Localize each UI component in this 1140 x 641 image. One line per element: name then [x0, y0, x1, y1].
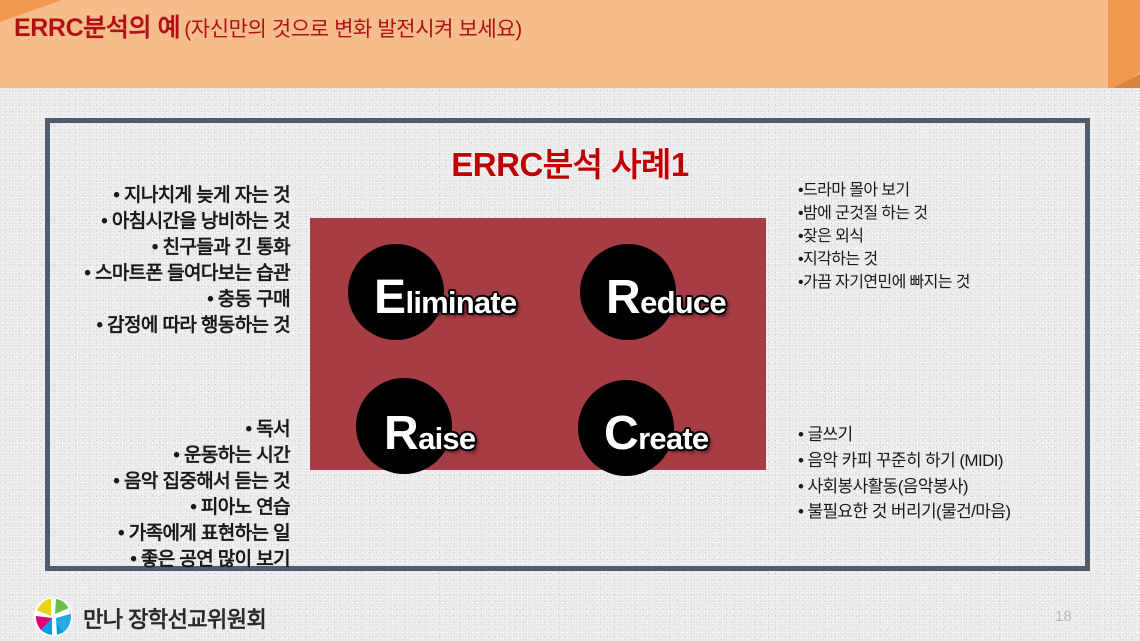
list-item: • 감정에 따라 행동하는 것 — [30, 313, 290, 339]
header-right-accent-stripe — [1108, 0, 1140, 88]
eliminate-item-list: • 지나치게 늦게 자는 것 • 아침시간을 낭비하는 것 • 친구들과 긴 통… — [30, 183, 290, 339]
list-item: • 음악 집중해서 듣는 것 — [30, 469, 290, 495]
list-item: • 피아노 연습 — [30, 495, 290, 521]
pinwheel-logo-icon — [33, 597, 73, 637]
list-item: • 사회봉사활동(음악봉사) — [798, 474, 1098, 500]
list-item: • 글쓰기 — [798, 422, 1098, 448]
list-item: •잦은 외식 — [798, 225, 1078, 248]
list-item: • 가족에게 표현하는 일 — [30, 521, 290, 547]
list-item: • 충동 구매 — [30, 287, 290, 313]
reduce-item-list: •드라마 몰아 보기 •밤에 군것질 하는 것 •잦은 외식 •지각하는 것 •… — [798, 179, 1078, 294]
eliminate-label: Eliminate — [352, 248, 516, 322]
reduce-rest: educe — [640, 285, 726, 320]
create-initial: C — [604, 407, 638, 460]
list-item: • 독서 — [30, 417, 290, 443]
page-title: ERRC분석의 예 — [14, 14, 180, 42]
slide-canvas: ERRC분석의 예(자신만의 것으로 변화 발전시켜 보세요) ERRC분석 사… — [0, 0, 1140, 641]
list-item: •드라마 몰아 보기 — [798, 179, 1078, 202]
list-item: • 아침시간을 낭비하는 것 — [30, 209, 290, 235]
errc-cell-raise[interactable]: Raise — [362, 384, 475, 458]
reduce-initial: R — [606, 271, 640, 324]
create-rest: reate — [638, 421, 708, 456]
errc-cell-create[interactable]: Create — [582, 384, 708, 458]
list-item: •지각하는 것 — [798, 248, 1078, 271]
list-item: • 불필요한 것 버리기(물건/마음) — [798, 499, 1098, 525]
list-item: • 스마트폰 들여다보는 습관 — [30, 261, 290, 287]
organization-name: 만나 장학선교위원회 — [83, 602, 266, 634]
create-item-list: • 글쓰기 • 음악 카피 꾸준히 하기 (MIDI) • 사회봉사활동(음악봉… — [798, 422, 1098, 525]
raise-initial: R — [384, 407, 418, 460]
list-item: • 음악 카피 꾸준히 하기 (MIDI) — [798, 448, 1098, 474]
list-item: • 지나치게 늦게 자는 것 — [30, 183, 290, 209]
page-subtitle: (자신만의 것으로 변화 발전시켜 보세요) — [184, 18, 522, 41]
slide-header: ERRC분석의 예(자신만의 것으로 변화 발전시켜 보세요) — [0, 0, 1140, 90]
header-title-group: ERRC분석의 예(자신만의 것으로 변화 발전시켜 보세요) — [14, 8, 522, 44]
raise-item-list: • 독서 • 운동하는 시간 • 음악 집중해서 듣는 것 • 피아노 연습 •… — [30, 417, 290, 573]
list-item: •밤에 군것질 하는 것 — [798, 202, 1078, 225]
create-label: Create — [582, 384, 708, 458]
list-item: •가끔 자기연민에 빠지는 것 — [798, 271, 1078, 294]
errc-cell-reduce[interactable]: Reduce — [584, 248, 726, 322]
errc-cell-eliminate[interactable]: Eliminate — [352, 248, 516, 322]
eliminate-rest: liminate — [406, 285, 517, 320]
raise-rest: aise — [418, 421, 475, 456]
page-number: 18 — [1055, 608, 1072, 625]
eliminate-initial: E — [374, 271, 406, 324]
raise-label: Raise — [362, 384, 475, 458]
list-item: • 운동하는 시간 — [30, 443, 290, 469]
list-item: • 친구들과 긴 통화 — [30, 235, 290, 261]
list-item: • 좋은 공연 많이 보기 — [30, 547, 290, 573]
reduce-label: Reduce — [584, 248, 726, 322]
